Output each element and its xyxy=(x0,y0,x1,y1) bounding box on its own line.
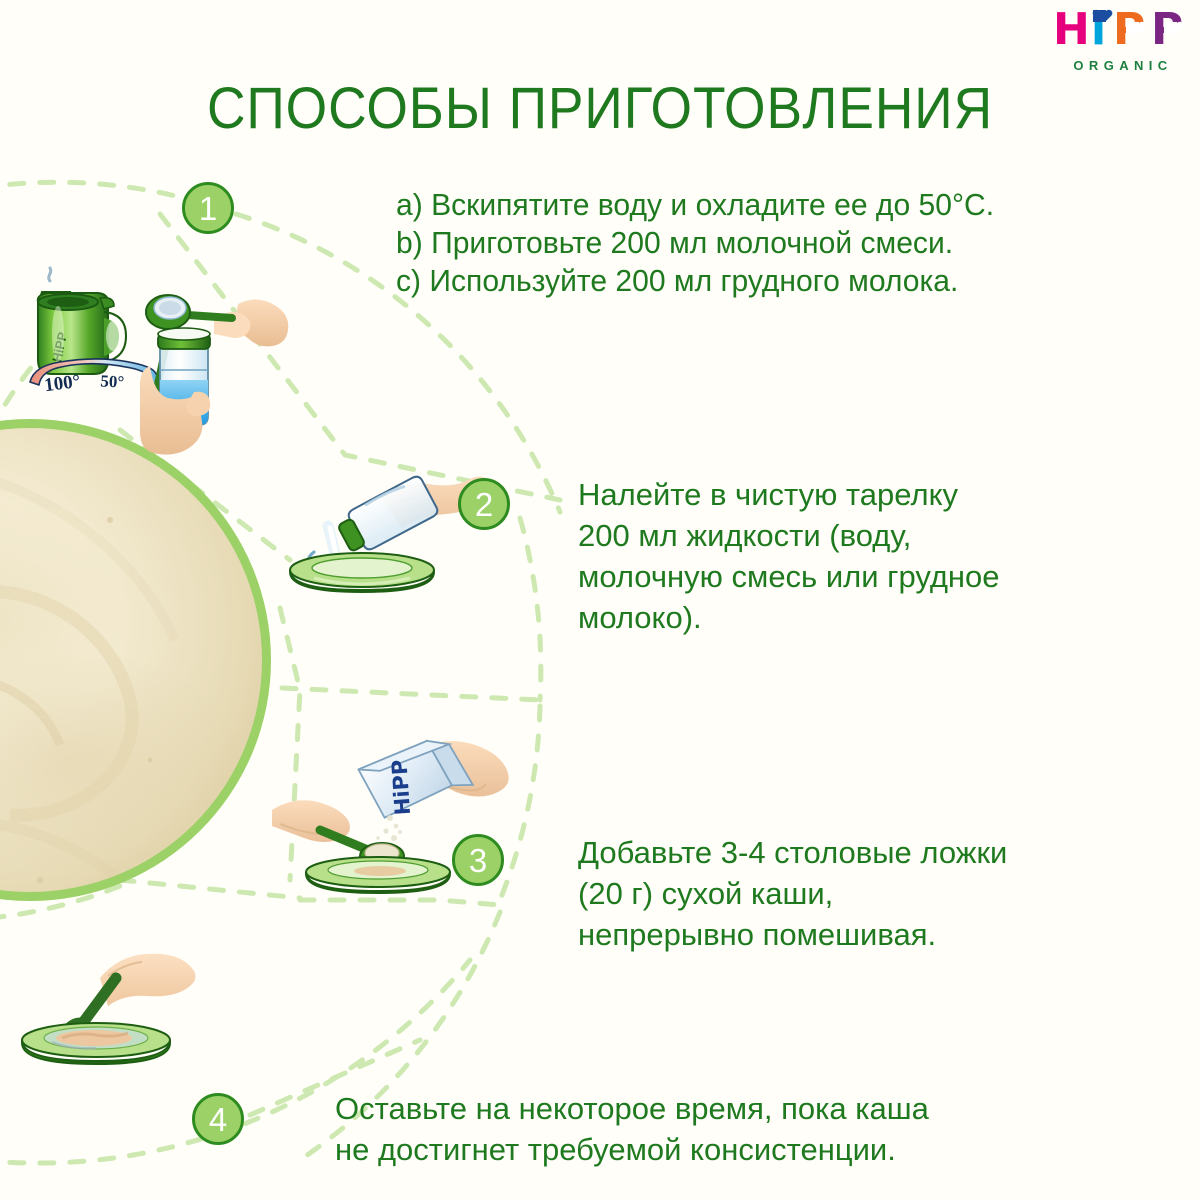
heart-icon-i-dot xyxy=(1093,10,1106,22)
step-1-badge: 1 xyxy=(182,182,234,234)
heart-icon-p-counter-1 xyxy=(1126,22,1139,34)
bottle xyxy=(334,474,439,558)
step-2-text: Налейте в чистую тарелку 200 мл жидкости… xyxy=(578,474,1178,638)
hipp-organic-logo: H i P P ORGANIC xyxy=(1047,8,1192,80)
step-4-illustration xyxy=(24,942,239,1077)
step-3-badge: 3 xyxy=(452,834,504,886)
step-4-text: Оставьте на некоторое время, пока каша н… xyxy=(335,1088,1165,1170)
infographic-root: H i P P ORGANIC СПОСОБЫ ПРИГОТОВЛЕНИЯ a)… xyxy=(0,0,1200,1200)
step-4-badge: 4 xyxy=(192,1093,244,1145)
bottle-with-scoop-and-hand xyxy=(140,295,288,455)
svg-text:HiPP: HiPP xyxy=(387,759,415,816)
svg-text:100°: 100° xyxy=(43,371,81,396)
bowl xyxy=(306,857,450,893)
bowl-with-porridge xyxy=(22,1023,170,1064)
page-title: СПОСОБЫ ПРИГОТОВЛЕНИЯ xyxy=(48,78,1152,140)
hipp-wordmark: H i P P xyxy=(1047,8,1192,54)
step-1-illustration: HiPP 100° 50° xyxy=(8,248,290,458)
svg-text:50°: 50° xyxy=(100,371,125,391)
logo-letter-h: H xyxy=(1053,8,1089,52)
step-3-text: Добавьте 3-4 столовые ложки (20 г) сухой… xyxy=(578,832,1178,955)
step-2-illustration xyxy=(284,462,499,597)
bowl xyxy=(290,553,434,592)
logo-tagline: ORGANIC xyxy=(1054,58,1192,73)
step-1-text: a) Вскипятите воду и охладите ее до 50°C… xyxy=(396,186,1172,300)
heart-icon-p-counter-2 xyxy=(1164,22,1177,34)
step-2-badge: 2 xyxy=(458,478,510,530)
